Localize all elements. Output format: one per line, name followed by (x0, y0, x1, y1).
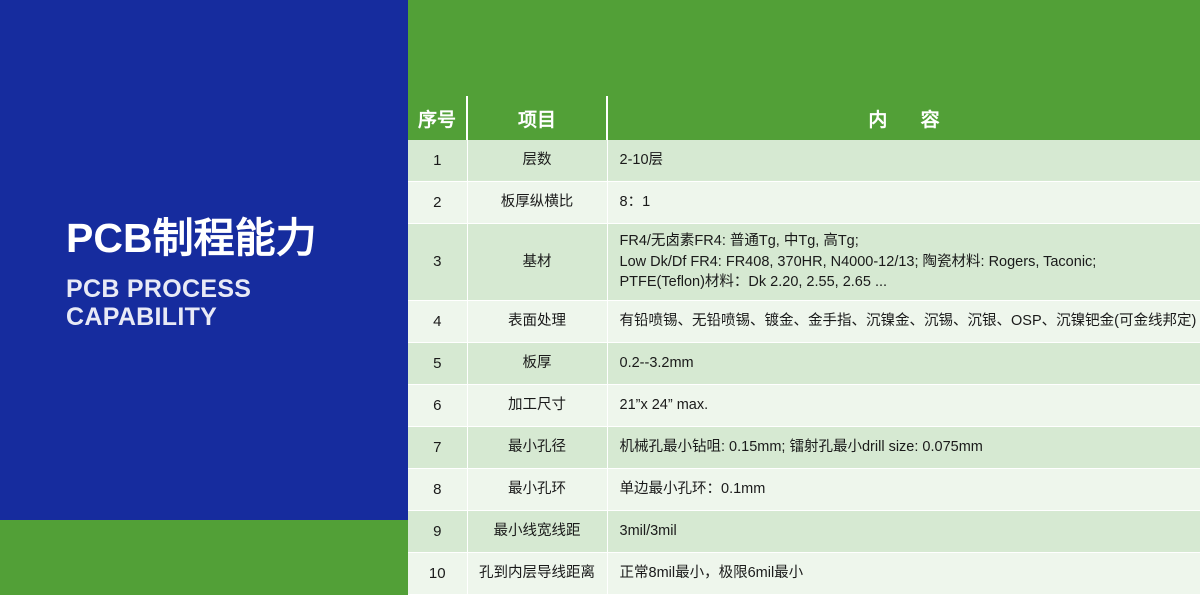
table-row: 10孔到内层导线距离正常8mil最小，极限6mil最小 (408, 553, 1200, 595)
cell-item: 孔到内层导线距离 (467, 553, 607, 595)
cell-no: 9 (408, 511, 467, 553)
left-title-panel: PCB制程能力 PCB PROCESS CAPABILITY (0, 0, 408, 520)
cell-item: 加工尺寸 (467, 385, 607, 427)
slide-root: PCB制程能力 PCB PROCESS CAPABILITY 序号 项目 内 容… (0, 0, 1200, 520)
table-row: 8最小孔环单边最小孔环：0.1mm (408, 469, 1200, 511)
table-row: 9最小线宽线距3mil/3mil (408, 511, 1200, 553)
content-line: Low Dk/Df FR4: FR408, 370HR, N4000-12/13… (620, 252, 1195, 273)
cell-item: 板厚 (467, 343, 607, 385)
table-row: 4表面处理有铅喷锡、无铅喷锡、镀金、金手指、沉镍金、沉锡、沉银、OSP、沉镍钯金… (408, 301, 1200, 343)
content-line: 有铅喷锡、无铅喷锡、镀金、金手指、沉镍金、沉锡、沉银、OSP、沉镍钯金(可金线邦… (620, 311, 1195, 332)
table-header: 序号 项目 内 容 (408, 96, 1200, 140)
content-line: 机械孔最小钻咀: 0.15mm; 镭射孔最小drill size: 0.075m… (620, 437, 1195, 458)
content-line: 0.2--3.2mm (620, 353, 1195, 374)
cell-item: 最小线宽线距 (467, 511, 607, 553)
subtitle-line-1: PCB PROCESS (66, 275, 396, 303)
spec-table: 序号 项目 内 容 1层数2-10层2板厚纵横比8：13基材FR4/无卤素FR4… (408, 96, 1200, 595)
spec-table-container: 序号 项目 内 容 1层数2-10层2板厚纵横比8：13基材FR4/无卤素FR4… (408, 96, 1200, 446)
content-line: 8：1 (620, 192, 1195, 213)
table-row: 6加工尺寸21”x 24” max. (408, 385, 1200, 427)
title-block: PCB制程能力 PCB PROCESS CAPABILITY (66, 216, 396, 331)
cell-no: 5 (408, 343, 467, 385)
table-row: 3基材FR4/无卤素FR4: 普通Tg, 中Tg, 高Tg;Low Dk/Df … (408, 224, 1200, 301)
table-row: 1层数2-10层 (408, 140, 1200, 182)
cell-no: 2 (408, 182, 467, 224)
cell-content: 2-10层 (607, 140, 1200, 182)
content-line: 2-10层 (620, 150, 1195, 171)
cell-content: 8：1 (607, 182, 1200, 224)
cell-no: 1 (408, 140, 467, 182)
cell-content: 正常8mil最小，极限6mil最小 (607, 553, 1200, 595)
table-body: 1层数2-10层2板厚纵横比8：13基材FR4/无卤素FR4: 普通Tg, 中T… (408, 140, 1200, 595)
cell-content: 机械孔最小钻咀: 0.15mm; 镭射孔最小drill size: 0.075m… (607, 427, 1200, 469)
cell-no: 3 (408, 224, 467, 301)
cell-no: 10 (408, 553, 467, 595)
subtitle-line-2: CAPABILITY (66, 303, 396, 331)
column-header-no: 序号 (408, 96, 467, 140)
cell-content: 0.2--3.2mm (607, 343, 1200, 385)
cell-no: 7 (408, 427, 467, 469)
cell-content: 单边最小孔环：0.1mm (607, 469, 1200, 511)
cell-content: 3mil/3mil (607, 511, 1200, 553)
page-subtitle-en: PCB PROCESS CAPABILITY (66, 275, 396, 331)
cell-content: 21”x 24” max. (607, 385, 1200, 427)
content-line: PTFE(Teflon)材料：Dk 2.20, 2.55, 2.65 ... (620, 272, 1195, 293)
content-line: 正常8mil最小，极限6mil最小 (620, 563, 1195, 584)
cell-item: 最小孔环 (467, 469, 607, 511)
column-header-item: 项目 (467, 96, 607, 140)
cell-no: 8 (408, 469, 467, 511)
table-row: 5板厚0.2--3.2mm (408, 343, 1200, 385)
content-line: 单边最小孔环：0.1mm (620, 479, 1195, 500)
page-title-cn: PCB制程能力 (66, 216, 396, 261)
table-row: 7最小孔径机械孔最小钻咀: 0.15mm; 镭射孔最小drill size: 0… (408, 427, 1200, 469)
content-line: 3mil/3mil (620, 521, 1195, 542)
cell-item: 最小孔径 (467, 427, 607, 469)
cell-item: 表面处理 (467, 301, 607, 343)
cell-no: 6 (408, 385, 467, 427)
content-line: 21”x 24” max. (620, 395, 1195, 416)
cell-no: 4 (408, 301, 467, 343)
cell-item: 层数 (467, 140, 607, 182)
cell-content: 有铅喷锡、无铅喷锡、镀金、金手指、沉镍金、沉锡、沉银、OSP、沉镍钯金(可金线邦… (607, 301, 1200, 343)
table-header-row: 序号 项目 内 容 (408, 96, 1200, 140)
table-row: 2板厚纵横比8：1 (408, 182, 1200, 224)
cell-item: 板厚纵横比 (467, 182, 607, 224)
content-line: FR4/无卤素FR4: 普通Tg, 中Tg, 高Tg; (620, 231, 1195, 252)
cell-content: FR4/无卤素FR4: 普通Tg, 中Tg, 高Tg;Low Dk/Df FR4… (607, 224, 1200, 301)
cell-item: 基材 (467, 224, 607, 301)
column-header-content: 内 容 (607, 96, 1200, 140)
